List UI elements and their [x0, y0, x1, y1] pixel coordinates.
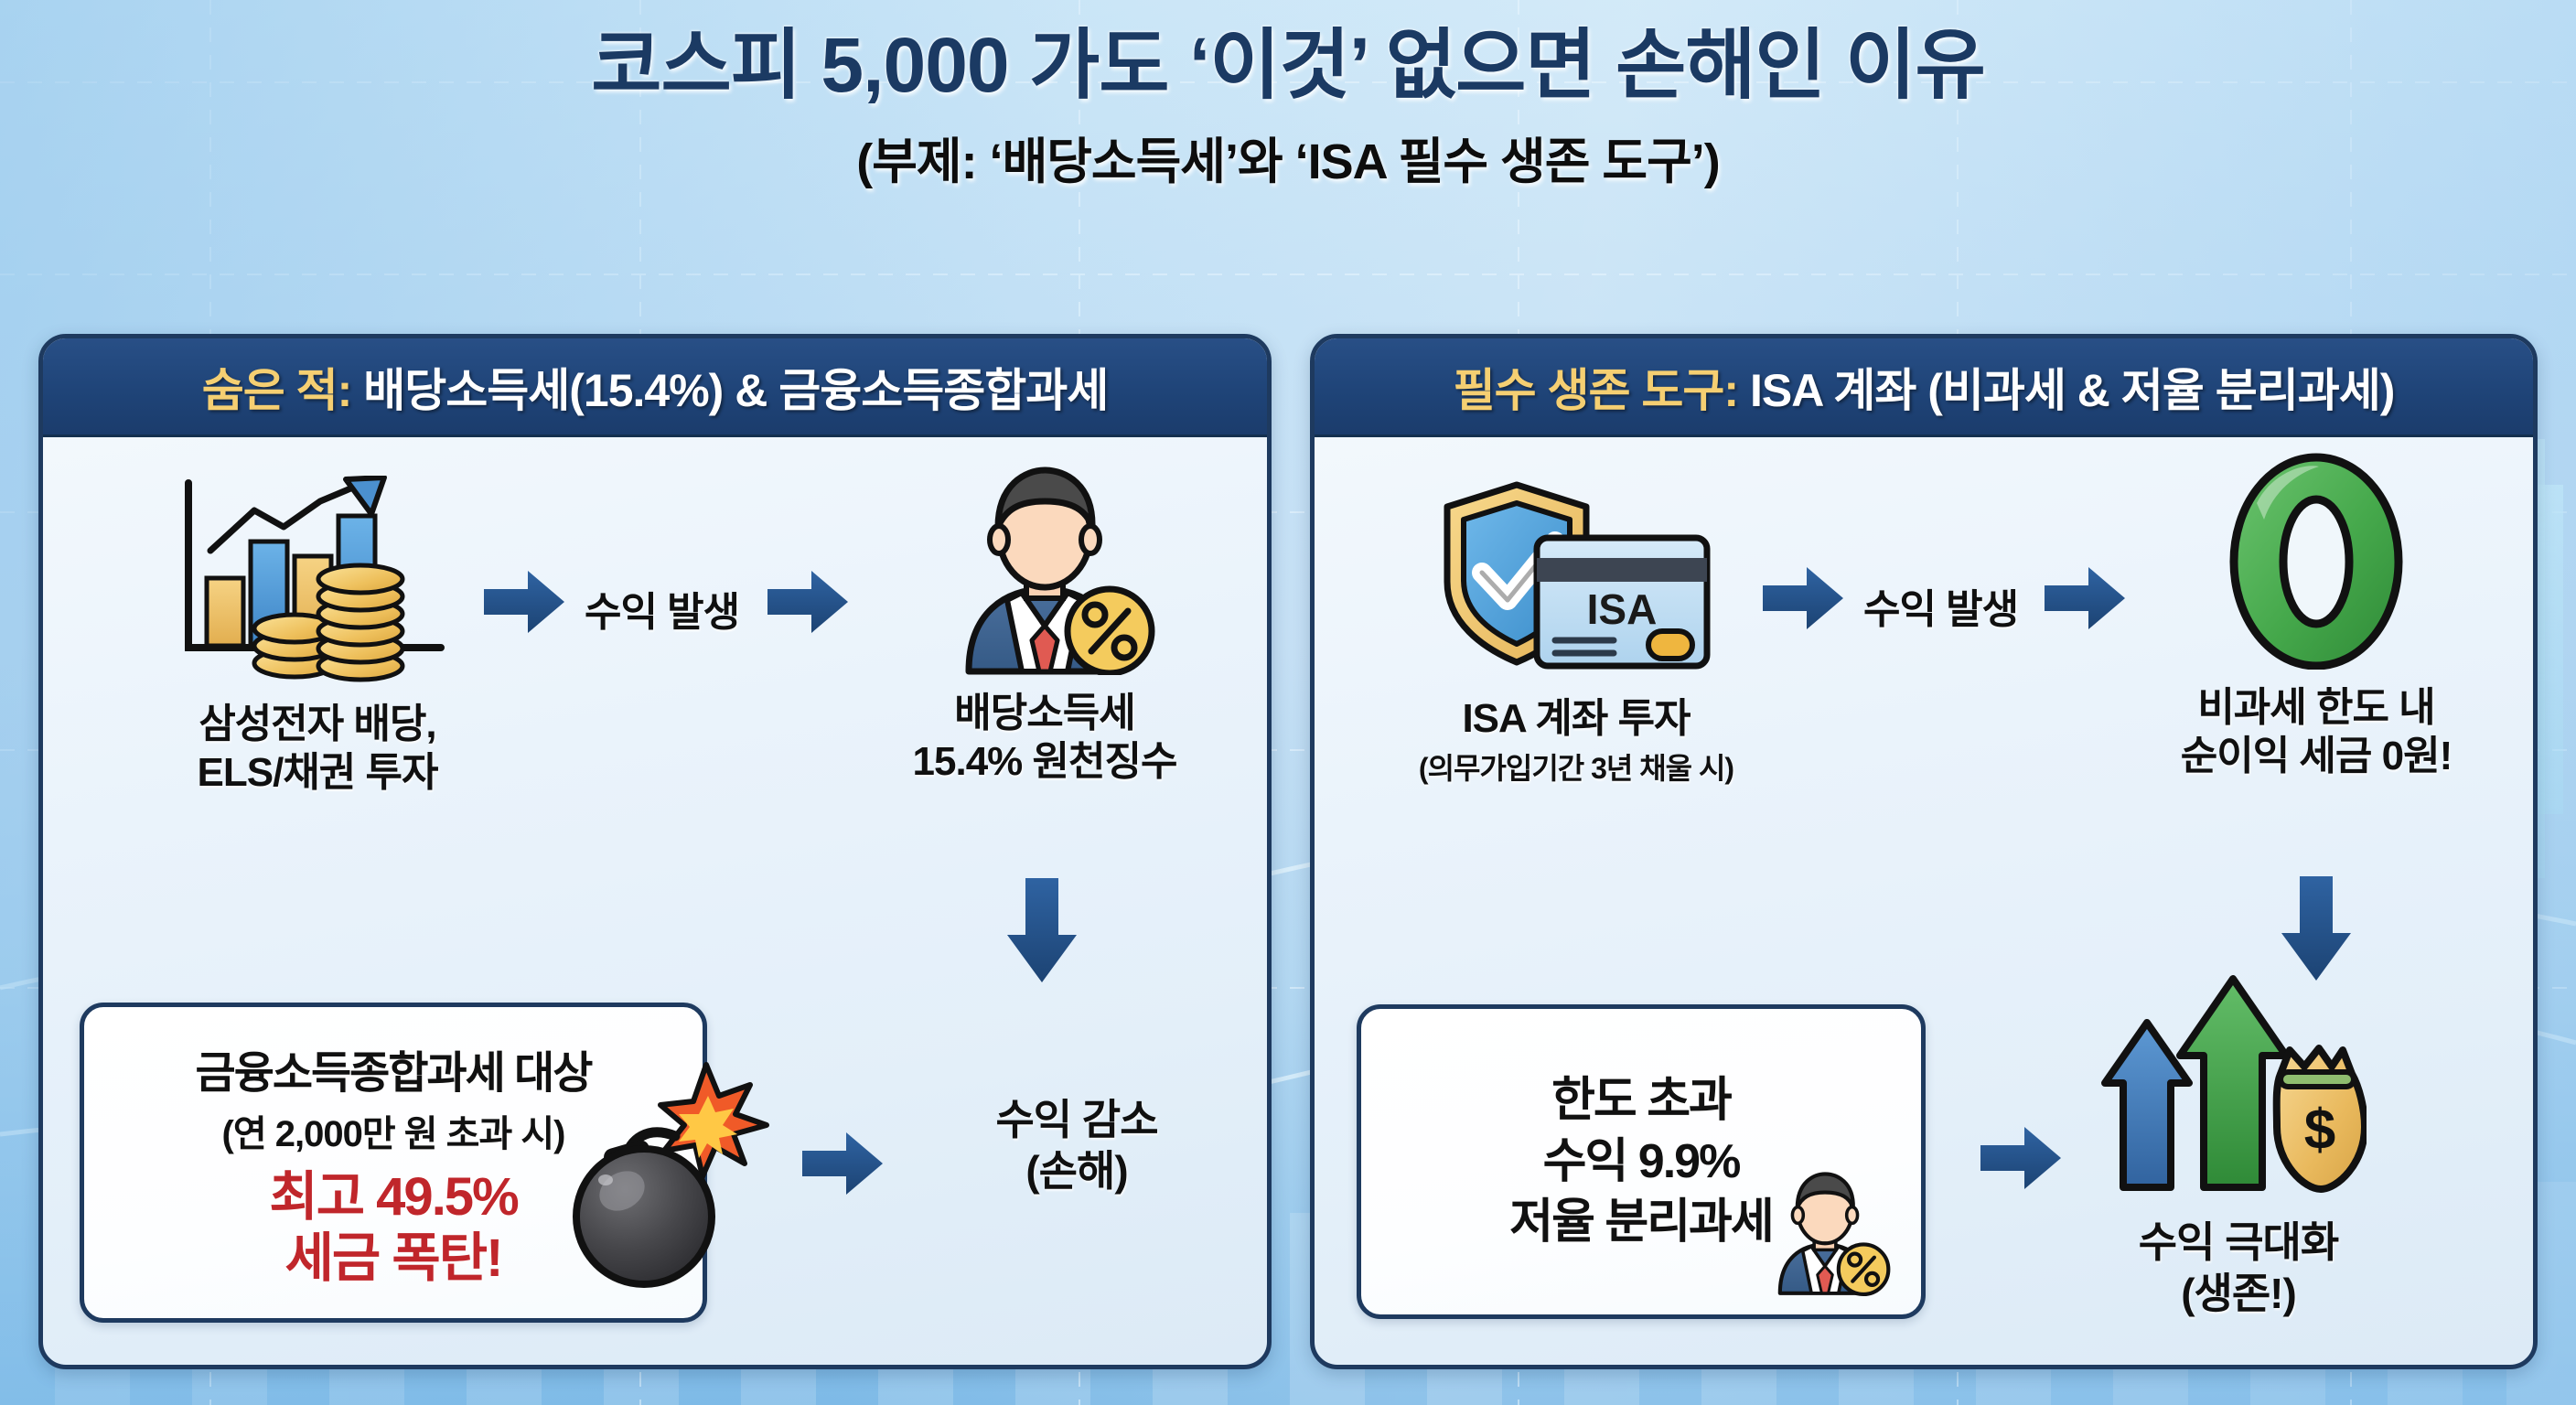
right-arrow-icon — [1979, 1125, 2063, 1196]
right-result-label: 수익 극대화 (생존!) — [2065, 1217, 2412, 1319]
left-panel-header: 숨은 적: 배당소득세(15.4%) & 금융소득종합과세 — [43, 338, 1267, 437]
left-flow-label: 수익 발생 — [585, 579, 739, 638]
right-stage-zero: 비과세 한도 내 순이익 세금 0원! — [2110, 459, 2522, 781]
right-arrow-icon — [482, 569, 566, 639]
left-header-accent: 숨은 적: — [202, 365, 352, 416]
svg-text:$: $ — [2304, 1099, 2335, 1162]
left-panel: 숨은 적: 배당소득세(15.4%) & 금융소득종합과세 — [38, 334, 1272, 1369]
isa-card-text: ISA — [1587, 585, 1658, 633]
left-header-main: 배당소득세(15.4%) & 금융소득종합과세 — [363, 365, 1108, 416]
right-panel-body: ISA ISA 계좌 투자 (의무가입기간 3년 채울 시) — [1315, 437, 2533, 1369]
bomb-icon — [542, 1059, 770, 1292]
left-stage-tax: 배당소득세 15.4% 원천징수 — [830, 465, 1260, 787]
left-callout-title: 금융소득종합과세 대상 — [196, 1036, 592, 1100]
title-block: 코스피 5,000 가도 ‘이것’ 없으면 손해인 이유 (부제: ‘배당소득세… — [0, 22, 2576, 193]
right-arrow-icon — [800, 1131, 885, 1201]
right-stage2-label: 비과세 한도 내 순이익 세금 0원! — [2110, 684, 2522, 781]
down-arrow-icon — [1005, 876, 1079, 989]
left-result-label: 수익 감소 (손해) — [912, 1094, 1241, 1196]
right-callout-text: 한도 초과 수익 9.9% 저율 분리과세 — [1509, 1070, 1773, 1253]
right-header-accent: 필수 생존 도구: — [1454, 365, 1738, 416]
bar-chart-coins-icon — [89, 476, 546, 686]
page-subtitle: (부제: ‘배당소득세’와 ‘ISA 필수 생존 도구’) — [0, 121, 2576, 193]
left-callout-sub: (연 2,000만 원 초과 시) — [222, 1104, 565, 1157]
left-callout-highlight: 최고 49.5% 세금 폭탄! — [269, 1166, 517, 1290]
left-stage2-label: 배당소득세 15.4% 원천징수 — [830, 690, 1260, 787]
right-flow-label: 수익 발생 — [1863, 576, 2018, 635]
right-flow-row: ISA ISA 계좌 투자 (의무가입기간 3년 채울 시) — [1315, 437, 2533, 949]
page-title: 코스피 5,000 가도 ‘이것’ 없으면 손해인 이유 — [0, 22, 2576, 108]
businessman-percent-icon — [1752, 1169, 1898, 1302]
left-stage-investment: 삼성전자 배당, ELS/채권 투자 — [89, 476, 546, 798]
businessman-percent-icon — [830, 465, 1260, 675]
right-stage-isa: ISA ISA 계좌 투자 (의무가입기간 3년 채울 시) — [1347, 470, 1805, 788]
right-header-main: ISA 계좌 (비과세 & 저율 분리과세) — [1750, 365, 2394, 416]
right-stage1-sub: (의무가입기간 3년 채울 시) — [1347, 745, 1805, 788]
right-panel-header: 필수 생존 도구: ISA 계좌 (비과세 & 저율 분리과세) — [1315, 338, 2533, 437]
right-panel: 필수 생존 도구: ISA 계좌 (비과세 & 저율 분리과세) — [1310, 334, 2538, 1369]
zero-icon — [2110, 459, 2522, 670]
left-panel-body: 삼성전자 배당, ELS/채권 투자 수익 발생 — [43, 437, 1267, 1369]
up-arrows-money-bag-icon: $ — [2101, 966, 2367, 1217]
shield-card-isa-icon: ISA — [1347, 470, 1805, 681]
left-stage1-label: 삼성전자 배당, ELS/채권 투자 — [89, 701, 546, 798]
right-arrow-icon — [1761, 565, 1845, 636]
left-flow-row: 삼성전자 배당, ELS/채권 투자 수익 발생 — [43, 437, 1267, 949]
right-stage1-label: ISA 계좌 투자 — [1347, 695, 1805, 744]
